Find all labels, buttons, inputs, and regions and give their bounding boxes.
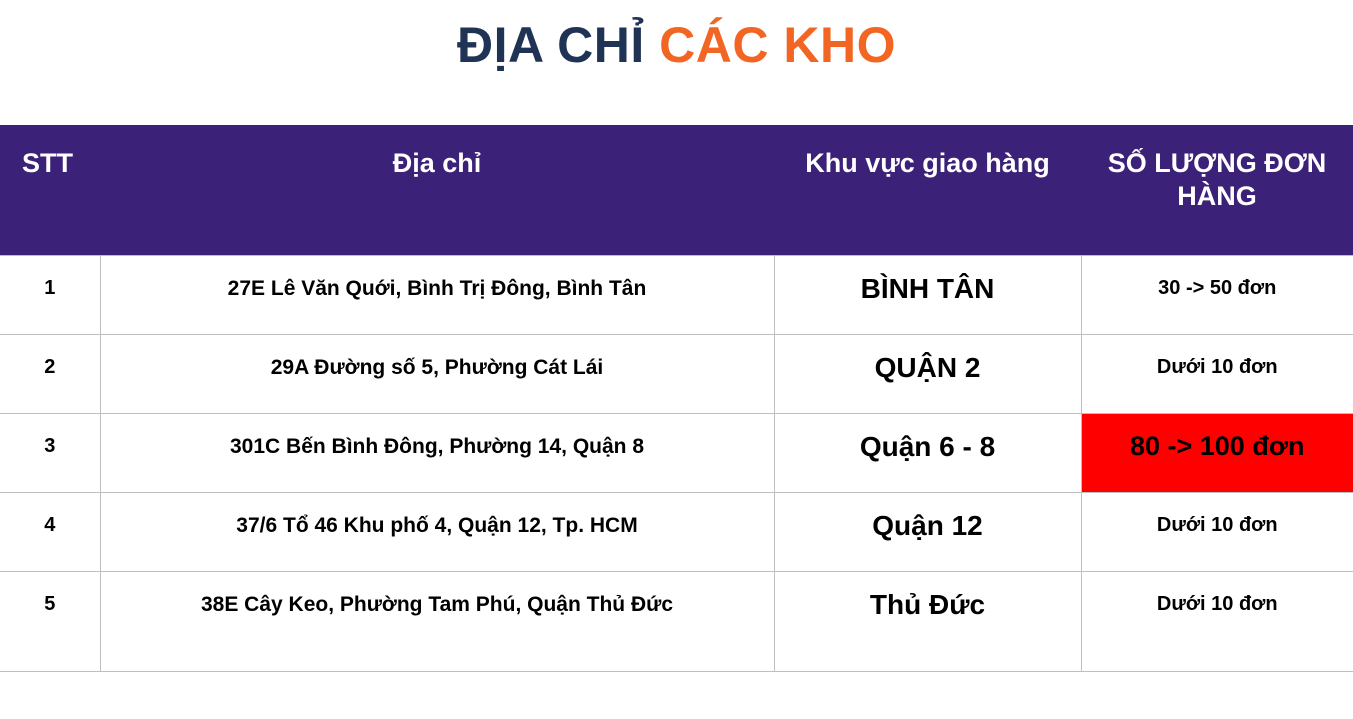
cell-address: 29A Đường số 5, Phường Cát Lái [100, 334, 774, 413]
warehouse-address-table: STT Địa chỉ Khu vực giao hàng SỐ LƯỢNG Đ… [0, 125, 1353, 672]
column-header-order-quantity: SỐ LƯỢNG ĐƠN HÀNG [1081, 125, 1353, 255]
cell-quantity: Dưới 10 đơn [1081, 492, 1353, 571]
cell-quantity: Dưới 10 đơn [1081, 571, 1353, 671]
column-header-address: Địa chỉ [100, 125, 774, 255]
table-body: 1 27E Lê Văn Quới, Bình Trị Đông, Bình T… [0, 255, 1353, 671]
cell-stt: 3 [0, 413, 100, 492]
column-header-delivery-area: Khu vực giao hàng [774, 125, 1081, 255]
cell-area: QUẬN 2 [774, 334, 1081, 413]
cell-stt: 1 [0, 255, 100, 334]
page-title-accent: CÁC KHO [659, 17, 896, 73]
table-header: STT Địa chỉ Khu vực giao hàng SỐ LƯỢNG Đ… [0, 125, 1353, 255]
cell-quantity: 30 -> 50 đơn [1081, 255, 1353, 334]
cell-address: 27E Lê Văn Quới, Bình Trị Đông, Bình Tân [100, 255, 774, 334]
table-row: 2 29A Đường số 5, Phường Cát Lái QUẬN 2 … [0, 334, 1353, 413]
cell-area: BÌNH TÂN [774, 255, 1081, 334]
cell-quantity: Dưới 10 đơn [1081, 334, 1353, 413]
table-row: 4 37/6 Tổ 46 Khu phố 4, Quận 12, Tp. HCM… [0, 492, 1353, 571]
table-row: 1 27E Lê Văn Quới, Bình Trị Đông, Bình T… [0, 255, 1353, 334]
page-title: ĐỊA CHỈ CÁC KHO [0, 20, 1353, 70]
cell-address: 37/6 Tổ 46 Khu phố 4, Quận 12, Tp. HCM [100, 492, 774, 571]
cell-address: 38E Cây Keo, Phường Tam Phú, Quận Thủ Đứ… [100, 571, 774, 671]
cell-area: Thủ Đức [774, 571, 1081, 671]
cell-area: Quận 12 [774, 492, 1081, 571]
cell-stt: 4 [0, 492, 100, 571]
cell-stt: 5 [0, 571, 100, 671]
table-row: 3 301C Bến Bình Đông, Phường 14, Quận 8 … [0, 413, 1353, 492]
warehouse-address-page: ĐỊA CHỈ CÁC KHO STT Địa chỉ Khu vực giao… [0, 0, 1353, 719]
table-header-row: STT Địa chỉ Khu vực giao hàng SỐ LƯỢNG Đ… [0, 125, 1353, 255]
page-title-primary: ĐỊA CHỈ [457, 17, 659, 73]
cell-stt: 2 [0, 334, 100, 413]
cell-address: 301C Bến Bình Đông, Phường 14, Quận 8 [100, 413, 774, 492]
cell-quantity-highlighted: 80 -> 100 đơn [1081, 413, 1353, 492]
cell-area: Quận 6 - 8 [774, 413, 1081, 492]
column-header-stt: STT [0, 125, 100, 255]
table-row: 5 38E Cây Keo, Phường Tam Phú, Quận Thủ … [0, 571, 1353, 671]
